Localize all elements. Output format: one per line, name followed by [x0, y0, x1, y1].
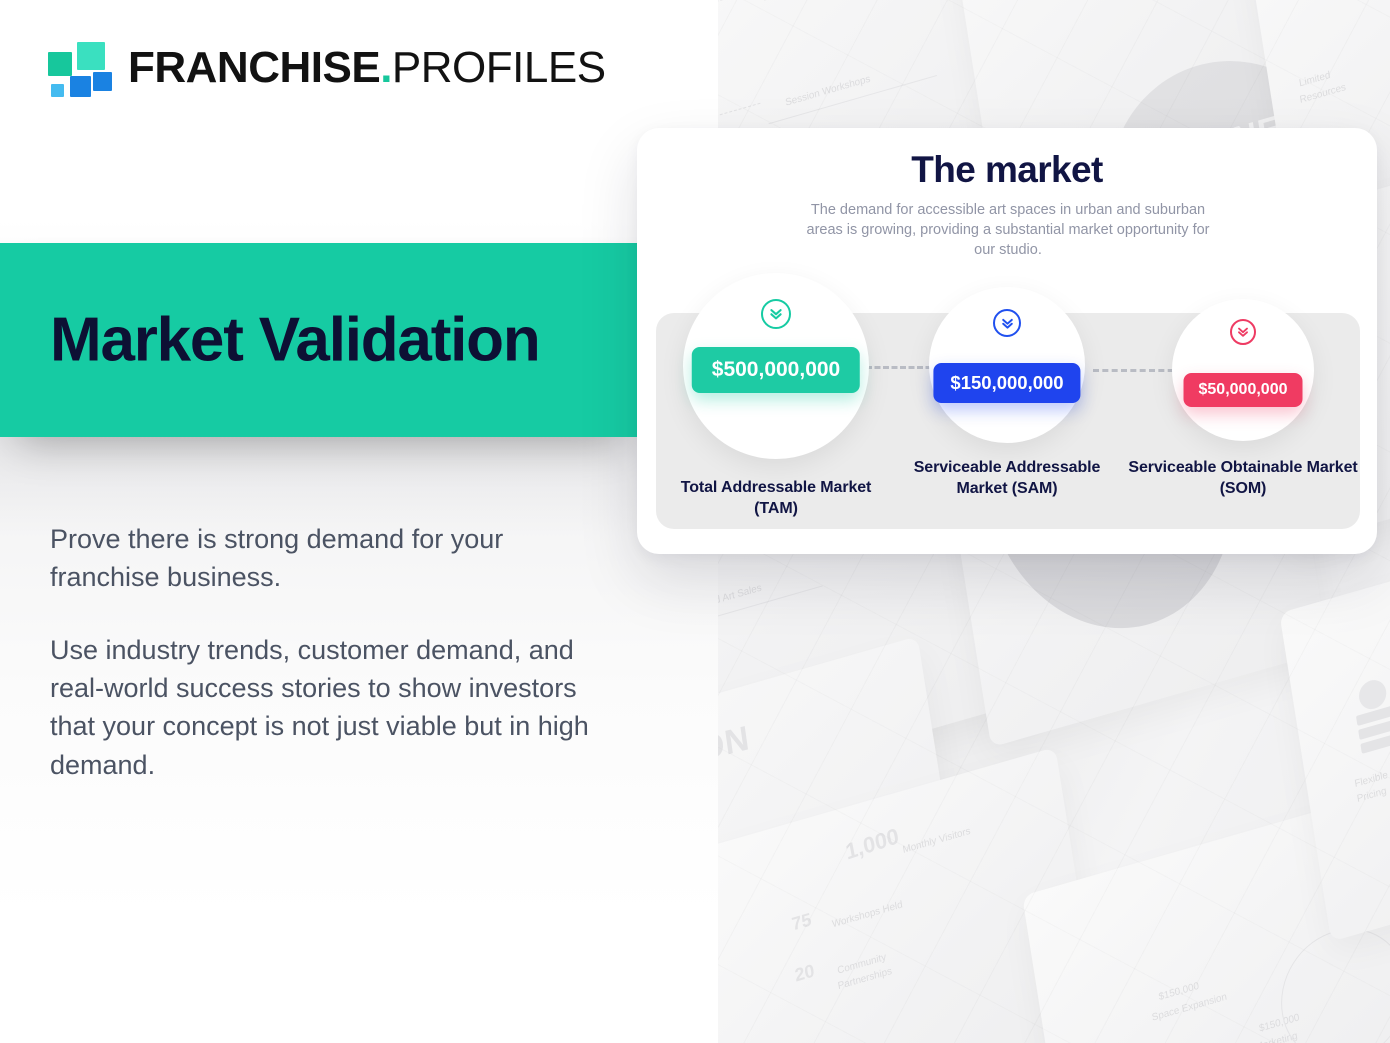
- deck-caption: Marketing: [1254, 1030, 1298, 1043]
- title-banner: Market Validation: [0, 243, 638, 437]
- market-label-tam: Total Addressable Market (TAM): [657, 477, 895, 519]
- deck-caption: Workshops Held: [831, 899, 903, 930]
- deck-caption: Resources: [1299, 82, 1347, 106]
- deck-metric: 75: [790, 909, 813, 935]
- deck-caption: $150,000: [1258, 1012, 1300, 1034]
- deck-caption: Limited: [1298, 70, 1331, 90]
- page-title: Market Validation: [50, 305, 540, 376]
- value-pill-tam: $500,000,000: [692, 347, 860, 393]
- market-column-som[interactable]: $50,000,000 Serviceable Obtainable Marke…: [1124, 273, 1362, 499]
- market-card: The market The demand for accessible art…: [637, 128, 1377, 554]
- logo-wordmark: FRANCHISE.PROFILES: [128, 46, 606, 90]
- market-column-sam[interactable]: $150,000,000 Serviceable Addressable Mar…: [888, 273, 1126, 499]
- bubble-tam: $500,000,000: [683, 273, 869, 459]
- deck-caption: Flexible: [1354, 770, 1389, 790]
- brand-logo[interactable]: FRANCHISE.PROFILES: [48, 42, 606, 94]
- double-chevron-down-icon[interactable]: [993, 309, 1021, 337]
- body-paragraph-2: Use industry trends, customer demand, an…: [50, 631, 590, 784]
- deck-card: [718, 636, 980, 1043]
- value-pill-sam: $150,000,000: [933, 363, 1080, 403]
- bubble-som: $50,000,000: [1172, 299, 1314, 441]
- deck-metric: 1,000: [843, 823, 901, 866]
- body-copy: Prove there is strong demand for your fr…: [50, 520, 590, 784]
- double-chevron-down-icon[interactable]: [1230, 319, 1256, 345]
- slide-canvas: Drop-in Fees Session Workshops Commissio…: [0, 0, 1390, 1043]
- deck-caption: $150,000: [1158, 981, 1200, 1003]
- market-columns: $500,000,000 Total Addressable Market (T…: [637, 273, 1377, 543]
- deck-caption: Commissioned Art Sales: [718, 582, 762, 623]
- deck-card: $150,000 Space Expansion $150,000 Market…: [1022, 786, 1390, 1043]
- deck-caption: Space Expansion: [1151, 991, 1228, 1023]
- logo-word-franchise: FRANCHISE: [128, 46, 380, 90]
- deck-caption: Community: [837, 952, 887, 977]
- deck-caption: Pricing: [1356, 786, 1387, 805]
- logo-squares-icon: [48, 42, 110, 94]
- logo-word-profiles: PROFILES: [392, 46, 606, 90]
- market-label-som: Serviceable Obtainable Market (SOM): [1124, 457, 1362, 499]
- bubble-sam: $150,000,000: [929, 287, 1085, 443]
- logo-dot: .: [380, 46, 392, 90]
- market-card-title: The market: [637, 149, 1377, 191]
- deck-caption: Session Workshops: [785, 73, 872, 108]
- double-chevron-down-icon[interactable]: [761, 299, 791, 329]
- deck-caption: Monthly Visitors: [902, 826, 971, 856]
- deck-card: 1,000 Monthly Visitors 75 Workshops Held…: [718, 747, 1106, 1043]
- market-card-subtitle: The demand for accessible art spaces in …: [802, 200, 1214, 260]
- value-pill-som: $50,000,000: [1184, 373, 1303, 407]
- deck-caption: Partnerships: [837, 966, 893, 992]
- market-label-sam: Serviceable Addressable Market (SAM): [888, 457, 1126, 499]
- deck-word: ON: [718, 719, 752, 770]
- body-paragraph-1: Prove there is strong demand for your fr…: [50, 520, 590, 597]
- deck-card: Flexible Pricing Professional Artists: [1279, 508, 1390, 941]
- deck-metric: 20: [793, 960, 816, 986]
- market-column-tam[interactable]: $500,000,000 Total Addressable Market (T…: [657, 273, 895, 519]
